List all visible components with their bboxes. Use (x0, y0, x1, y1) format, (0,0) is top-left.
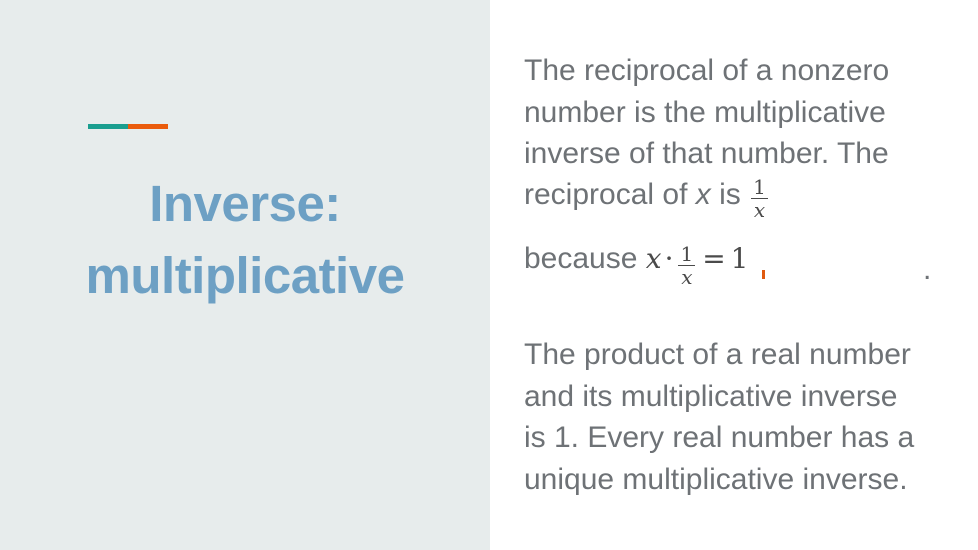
math-lead-text: reciprocal of (524, 178, 696, 211)
accent-rule-decoration (88, 124, 168, 129)
accent-rule-teal-segment (88, 124, 128, 129)
stray-period: . (923, 255, 931, 285)
paragraph-one-line-2: number is the multiplicative (524, 92, 960, 134)
fraction-numerator: 1 (751, 177, 768, 198)
paragraph-two-line-2: and its multiplicative inverse (524, 376, 966, 418)
math-line-reciprocal: reciprocal of x is 1x (524, 174, 770, 220)
content-panel: The reciprocal of a nonzero number is th… (490, 0, 978, 550)
slide-canvas: Inverse: multiplicative The reciprocal o… (0, 0, 978, 550)
fraction-one-over-x-2: 1x (678, 244, 695, 287)
paragraph-one: The reciprocal of a nonzero number is th… (524, 50, 960, 175)
math-multiplication-dot: · (662, 242, 677, 275)
paragraph-one-line-1: The reciprocal of a nonzero (524, 50, 960, 92)
because-lead-text: because (524, 242, 646, 275)
math-result-one: 1 (731, 242, 749, 275)
paragraph-one-line-3: inverse of that number. The (524, 133, 960, 175)
math-variable-x-2: x (646, 242, 662, 275)
fraction-one-over-x: 1x (751, 177, 768, 220)
paragraph-two: The product of a real number and its mul… (524, 334, 966, 500)
slide-title: Inverse: multiplicative (20, 168, 470, 312)
paragraph-two-line-3: is 1. Every real number has a (524, 417, 966, 459)
math-mid-text: is (711, 178, 749, 211)
title-panel: Inverse: multiplicative (0, 0, 490, 550)
fraction-denominator: x (751, 199, 768, 220)
math-variable-x: x (696, 178, 711, 211)
math-line-because: because x·1x=1 (524, 238, 749, 287)
stray-orange-mark (762, 270, 765, 279)
fraction-numerator-2: 1 (678, 244, 695, 265)
math-equals-sign: = (697, 242, 730, 275)
fraction-denominator-2: x (678, 266, 695, 287)
paragraph-two-line-1: The product of a real number (524, 334, 966, 376)
accent-rule-orange-segment (128, 124, 168, 129)
paragraph-two-line-4: unique multiplicative inverse. (524, 459, 966, 501)
